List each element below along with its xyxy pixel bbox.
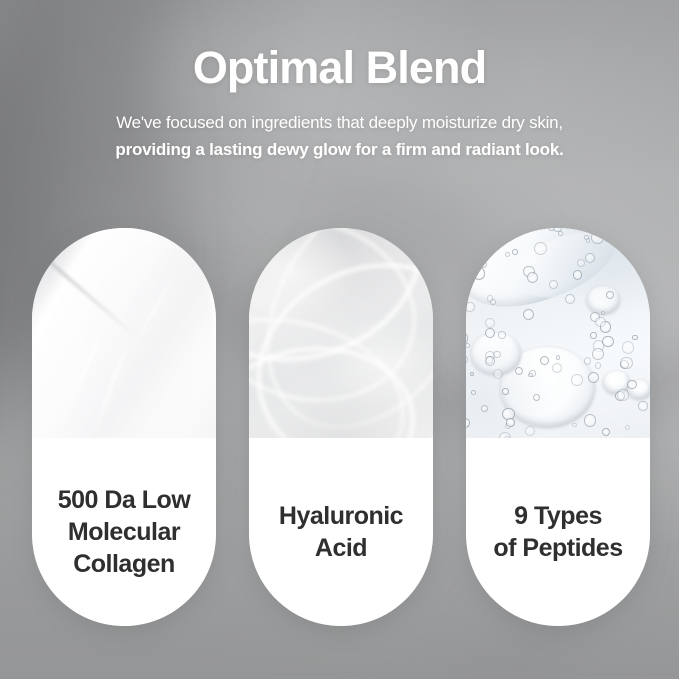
- subtitle-line-2: providing a lasting dewy glow for a firm…: [0, 136, 679, 163]
- ingredient-card[interactable]: Hyaluronic Acid: [249, 228, 433, 626]
- white-cream-texture-image: [32, 228, 216, 438]
- water-ripple-texture-image: [249, 228, 433, 438]
- ingredient-card[interactable]: 500 Da Low Molecular Collagen: [32, 228, 216, 626]
- ingredient-card-label-text: 500 Da Low Molecular Collagen: [58, 484, 191, 580]
- subtitle-line-1: We've focused on ingredients that deeply…: [0, 109, 679, 136]
- ingredient-card-label-text: 9 Types of Peptides: [493, 500, 622, 564]
- page-title: Optimal Blend: [0, 44, 679, 92]
- ingredient-card[interactable]: 9 Types of Peptides: [466, 228, 650, 626]
- ingredient-card-label: 9 Types of Peptides: [466, 438, 650, 626]
- ingredient-card-list: 500 Da Low Molecular Collagen Hyaluronic…: [32, 228, 650, 626]
- promo-graphic: Optimal Blend We've focused on ingredien…: [0, 0, 679, 679]
- header: Optimal Blend We've focused on ingredien…: [0, 44, 679, 163]
- subtitle: We've focused on ingredients that deeply…: [0, 109, 679, 163]
- serum-bubbles-texture-image: [466, 228, 650, 438]
- ingredient-card-label-text: Hyaluronic Acid: [279, 500, 403, 564]
- ingredient-card-label: 500 Da Low Molecular Collagen: [32, 438, 216, 626]
- ingredient-card-label: Hyaluronic Acid: [249, 438, 433, 626]
